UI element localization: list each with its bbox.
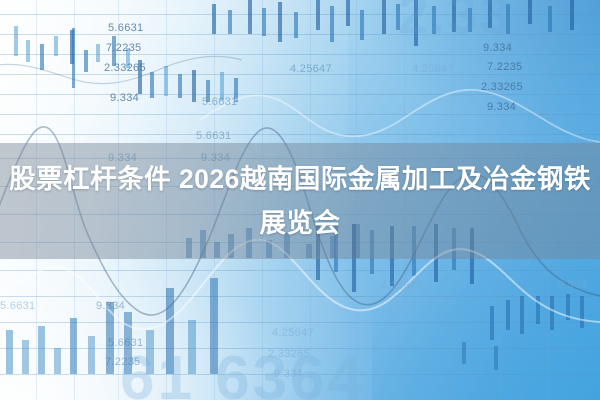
chart-value-label: 4.25647 xyxy=(381,280,423,292)
chart-value-label: 5.6631 xyxy=(196,130,231,142)
chart-value-label: 9.334 xyxy=(558,279,587,291)
title-overlay-band: 股票杠杆条件 2026越南国际金属加工及冶金钢铁 展览会 xyxy=(0,143,600,259)
chart-value-label: 4.25647 xyxy=(412,63,454,75)
chart-value-label: 5.6631 xyxy=(0,300,35,312)
chart-value-label: 9.334 xyxy=(96,300,125,312)
banner-image: 61 6364 2.33 5.66317.22352.332659.3345.6… xyxy=(0,0,600,400)
chart-value-label: 5.6631 xyxy=(202,96,237,108)
chart-value-label: 2.33265 xyxy=(104,62,146,74)
chart-value-label: 5.6631 xyxy=(108,22,143,34)
chart-value-label: 7.2235 xyxy=(105,356,140,368)
chart-value-label: 9.334 xyxy=(487,101,516,113)
ghost-digits-top: 2.33 xyxy=(398,0,511,46)
chart-value-label: 7.2235 xyxy=(487,61,522,73)
ghost-digits-bottom: 61 6364 xyxy=(120,343,365,400)
banner-title-line-2: 展览会 xyxy=(260,201,341,245)
chart-value-label: 2.33265 xyxy=(481,81,523,93)
chart-value-label: 9.334 xyxy=(483,42,512,54)
chart-value-label: 5.6631 xyxy=(108,337,143,349)
chart-value-label: 4.25647 xyxy=(272,327,314,339)
banner-title-line-1: 股票杠杆条件 2026越南国际金属加工及冶金钢铁 xyxy=(9,157,591,201)
chart-value-label: 2.33265 xyxy=(268,348,310,360)
chart-value-label: 9.334 xyxy=(110,92,139,104)
chart-value-label: 9.334 xyxy=(274,368,303,380)
chart-value-label: 7.2235 xyxy=(106,42,141,54)
chart-value-label: 4.25647 xyxy=(290,63,332,75)
chart-value-label: 4.2 xyxy=(578,62,594,74)
